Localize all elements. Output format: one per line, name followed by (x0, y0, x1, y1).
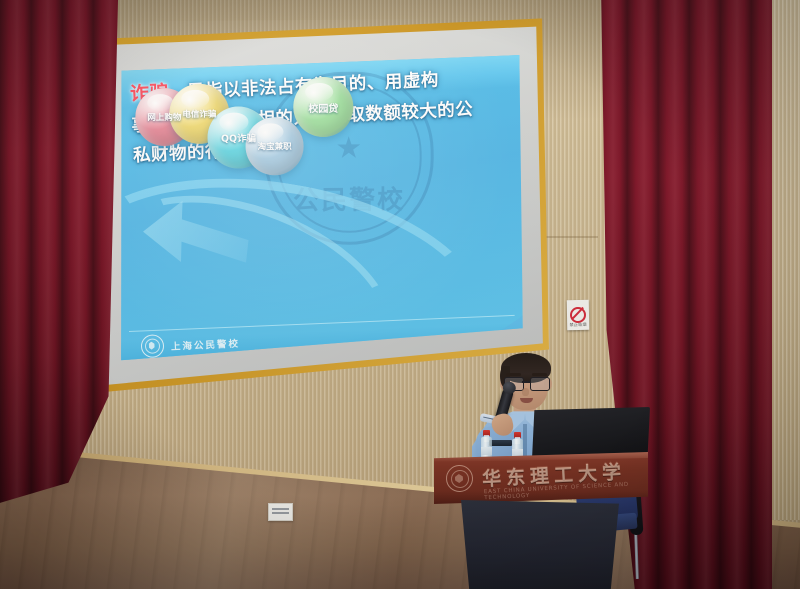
slide-badge: 淘宝兼职 (245, 117, 303, 175)
no-smoking-label: 禁止吸烟 (567, 322, 589, 328)
wall-control-plate (268, 503, 293, 521)
uniform-nameplate-left (489, 440, 512, 446)
stage-curtain-left (0, 0, 118, 508)
auditorium-photo: ★ 公民警校 诈骗，是指以非法占有为目的、用虚构 事实或者隐瞒真相的方法骗取数额… (0, 0, 800, 589)
university-emblem-icon (445, 464, 473, 492)
slide-badge-label: QQ诈骗 (221, 130, 256, 144)
presentation-monitor (532, 407, 650, 459)
police-academy-emblem-icon (141, 334, 165, 358)
slide-footer-org: 上海公民警校 (171, 335, 241, 352)
projection-screen: ★ 公民警校 诈骗，是指以非法占有为目的、用虚构 事实或者隐瞒真相的方法骗取数额… (85, 18, 550, 393)
slide-badge-label: 电信诈骗 (182, 108, 216, 120)
podium-base (456, 500, 624, 589)
podium-top-panel: 华东理工大学 EAST CHINA UNIVERSITY OF SCIENCE … (434, 452, 648, 504)
slide-badge: 校园贷 (293, 77, 353, 137)
no-smoking-sign: 禁止吸烟 (567, 300, 590, 330)
slide-badge-label: 网上购物 (147, 111, 181, 123)
slide-badge-label: 校园贷 (308, 99, 338, 114)
no-smoking-icon (570, 307, 586, 323)
slide-badge-label: 淘宝兼职 (258, 140, 292, 152)
lectern-podium: 华东理工大学 EAST CHINA UNIVERSITY OF SCIENCE … (434, 452, 648, 589)
presentation-slide: ★ 公民警校 诈骗，是指以非法占有为目的、用虚构 事实或者隐瞒真相的方法骗取数额… (119, 53, 523, 364)
